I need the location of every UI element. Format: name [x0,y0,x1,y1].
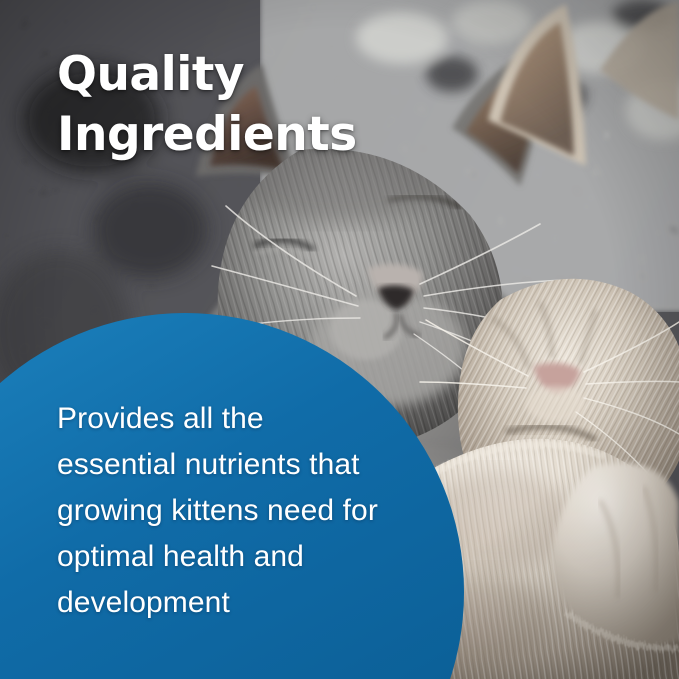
description-text: Provides all the essential nutrients tha… [57,396,417,626]
promo-card: Quality Ingredients Provides all the ess… [0,0,679,679]
page-title: Quality Ingredients [57,45,487,165]
